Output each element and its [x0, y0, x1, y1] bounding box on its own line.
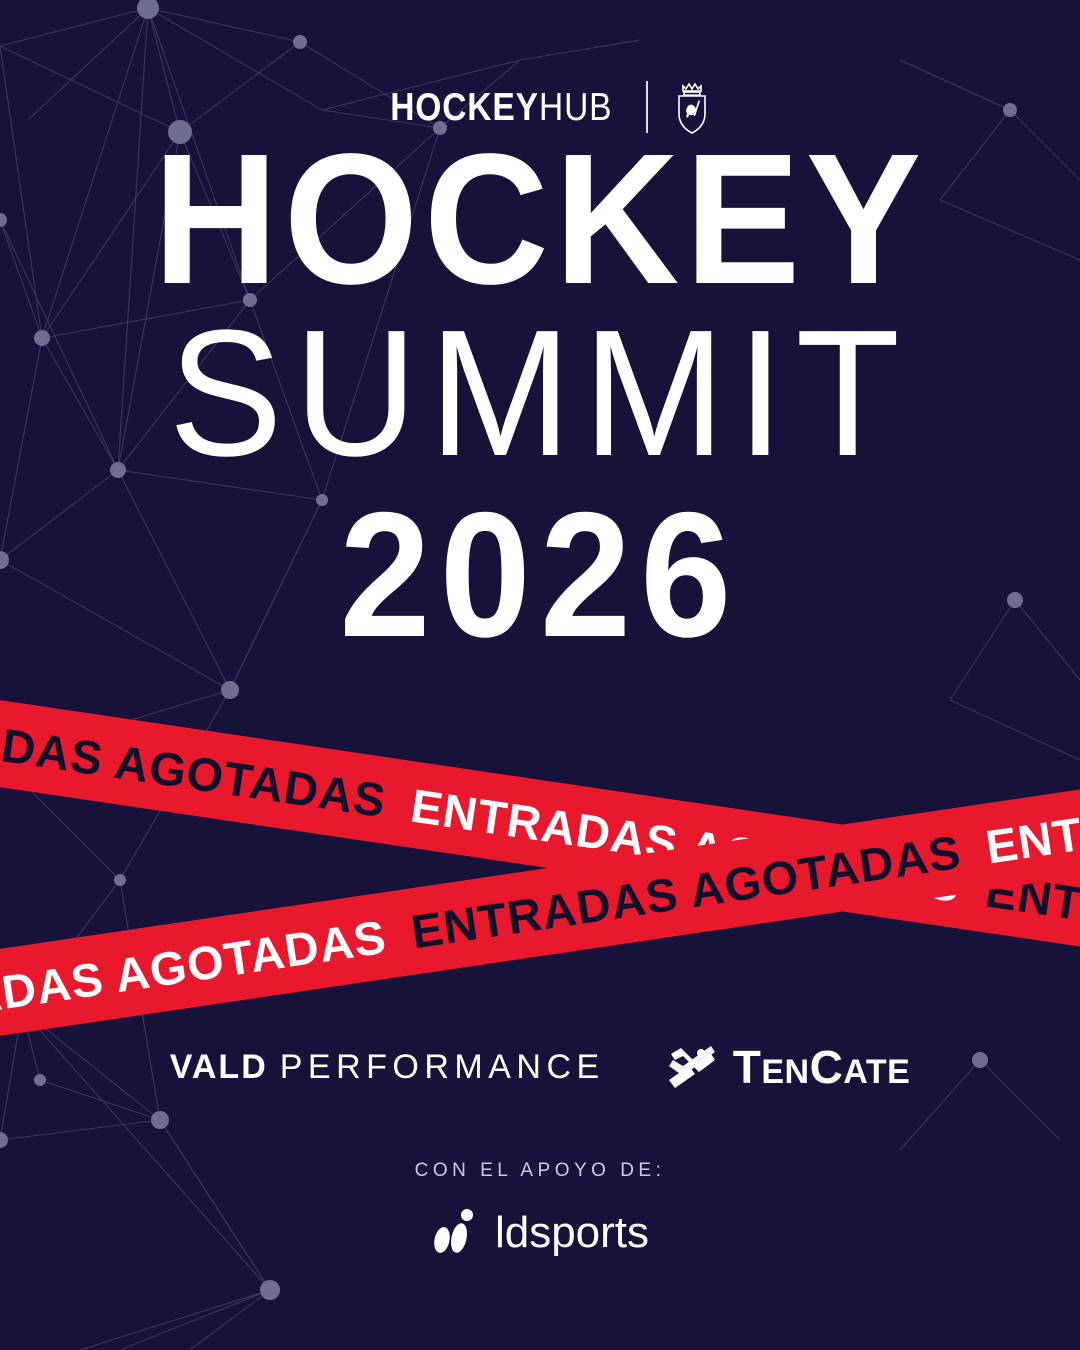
tencate-en: EN: [761, 1053, 809, 1091]
title-line-year: 2026: [43, 495, 1037, 655]
tencate-c: C: [810, 1041, 844, 1093]
poster-canvas: HOCKEYHUB HOCKEY SUMMIT 2026 ENTRADAS AG…: [0, 0, 1080, 1350]
vald-bold-text: VALD: [170, 1050, 268, 1084]
tencate-t: T: [733, 1041, 762, 1093]
tencate-ribbon-icon: [667, 1044, 719, 1090]
title-line-summit: SUMMIT: [27, 308, 1053, 479]
sponsor-row: VALDPERFORMANCE TENCATE: [0, 1044, 1080, 1090]
vald-light-text: PERFORMANCE: [280, 1050, 605, 1084]
partner-ldsports: ldsports: [0, 1208, 1080, 1258]
tencate-ate: ATE: [843, 1053, 910, 1091]
title-block: HOCKEY SUMMIT 2026: [0, 140, 1080, 655]
support-label: CON EL APOYO DE:: [0, 1160, 1080, 1182]
sponsor-vald-performance: VALDPERFORMANCE: [170, 1050, 605, 1084]
sponsor-tencate: TENCATE: [667, 1044, 911, 1090]
title-line-hockey: HOCKEY: [38, 140, 1042, 300]
ldsports-mark-icon: [431, 1208, 479, 1258]
tencate-wordmark: TENCATE: [733, 1044, 911, 1090]
ldsports-wordmark: ldsports: [495, 1211, 649, 1255]
